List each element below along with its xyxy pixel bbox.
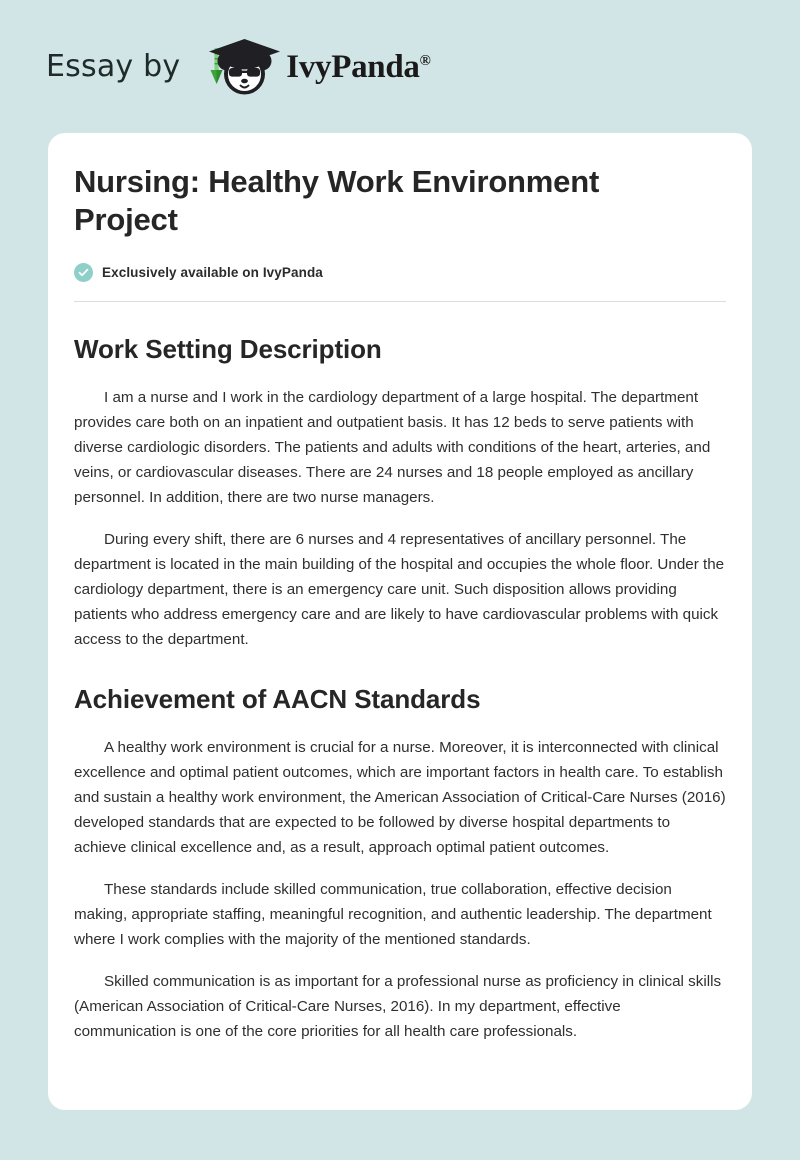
section-heading-work-setting-description: Work Setting Description [74,333,726,365]
paragraph: A healthy work environment is crucial fo… [74,735,726,860]
registered-trademark-icon: ® [420,53,431,69]
panda-graduation-cap-icon [194,35,290,99]
paragraph: During every shift, there are 6 nurses a… [74,527,726,652]
brand-header: Essay by [0,0,800,133]
header-divider [74,301,726,302]
check-circle-icon [74,263,93,282]
section-heading-achievement-of-aacn-standards: Achievement of AACN Standards [74,683,726,715]
wordmark-text: IvyPanda [286,49,419,85]
ivypanda-logo[interactable]: IvyPanda® [194,35,431,99]
exclusive-badge: Exclusively available on IvyPanda [74,263,726,282]
exclusive-badge-label: Exclusively available on IvyPanda [102,265,323,280]
page-title: Nursing: Healthy Work Environment Projec… [74,163,674,239]
paragraph: I am a nurse and I work in the cardiolog… [74,385,726,510]
paragraph: These standards include skilled communic… [74,877,726,952]
paragraph: Skilled communication is as important fo… [74,969,726,1044]
ivypanda-wordmark: IvyPanda® [286,51,431,84]
essay-card: Nursing: Healthy Work Environment Projec… [48,133,752,1110]
essay-by-label: Essay by [46,52,180,82]
